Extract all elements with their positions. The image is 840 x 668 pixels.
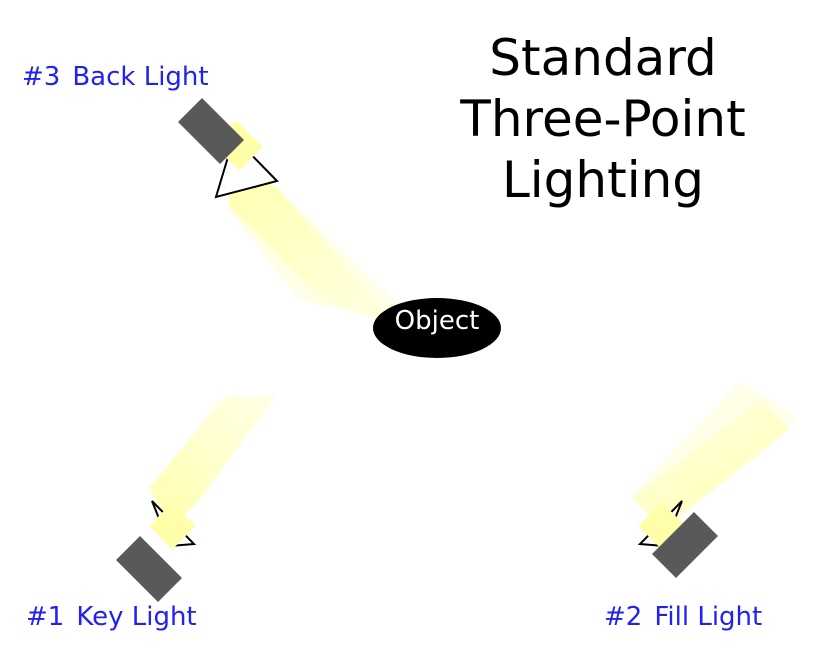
key-light-group[interactable] [116,391,277,602]
fill-light-name: Fill Light [654,602,762,632]
fill-light-group[interactable] [630,382,798,578]
key-light-beam-spread [148,395,277,526]
key-light-number: #1 [26,602,64,632]
title-line-3: Lighting [388,150,818,211]
page-title: Standard Three-Point Lighting [388,28,818,211]
object-label: Object [372,306,502,336]
title-line-2: Three-Point [388,89,818,150]
fill-light-number: #2 [604,602,642,632]
fill-light-label: #2Fill Light [604,602,762,632]
title-line-1: Standard [388,28,818,89]
back-light-name: Back Light [72,62,208,92]
diagram-canvas: Standard Three-Point Lighting #3Back Lig… [0,0,840,668]
key-light-name: Key Light [76,602,196,632]
fill-light-beam-spread [630,382,798,526]
key-light-label: #1Key Light [26,602,197,632]
back-light-label: #3Back Light [22,62,209,92]
back-light-number: #3 [22,62,60,92]
